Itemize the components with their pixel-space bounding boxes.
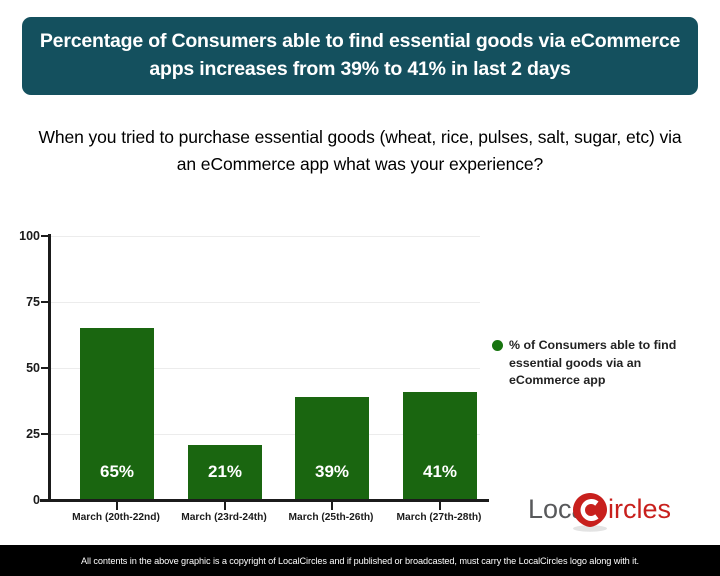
x-tick-mark-4	[439, 501, 441, 510]
y-tick-label-75: 75	[26, 295, 40, 309]
y-tick-mark-25	[41, 433, 49, 435]
legend-dot-icon	[492, 340, 503, 351]
bar-chart: 65% 21% 39% 41% 100 75 50 25 0 March (20…	[0, 0, 720, 545]
x-axis	[40, 499, 489, 502]
gridline-75	[48, 302, 480, 303]
x-tick-mark-1	[116, 501, 118, 510]
x-tick-mark-2	[224, 501, 226, 510]
y-tick-mark-50	[41, 367, 49, 369]
bar-value-label: 65%	[80, 462, 154, 482]
x-category-label-1: March (20th-22nd)	[72, 512, 160, 523]
plot-area: 65% 21% 39% 41%	[48, 236, 480, 500]
x-category-label-2: March (23rd-24th)	[181, 512, 266, 523]
x-tick-mark-3	[331, 501, 333, 510]
localcircles-logo: Local ircles	[528, 490, 704, 532]
legend-label: % of Consumers able to find essential go…	[509, 337, 696, 390]
bar-value-label: 41%	[403, 462, 477, 482]
y-tick-label-0: 0	[33, 493, 40, 507]
logo-text-ircles: ircles	[608, 494, 671, 524]
bar-value-label: 39%	[295, 462, 369, 482]
y-tick-mark-0	[41, 499, 49, 501]
x-category-label-3: March (25th-26th)	[289, 512, 374, 523]
gridline-100	[48, 236, 480, 237]
copyright-text: All contents in the above graphic is a c…	[81, 556, 639, 566]
y-axis-labels: 100 75 50 25 0	[0, 0, 40, 545]
y-tick-mark-75	[41, 301, 49, 303]
x-category-label-4: March (27th-28th)	[397, 512, 482, 523]
y-tick-mark-100	[41, 235, 49, 237]
bar-march-25th-26th[interactable]: 39%	[295, 397, 369, 500]
bar-value-label: 21%	[188, 462, 262, 482]
footer-bar: All contents in the above graphic is a c…	[0, 545, 720, 576]
bar-march-27th-28th[interactable]: 41%	[403, 392, 477, 500]
bar-march-20th-22nd[interactable]: 65%	[80, 328, 154, 500]
y-tick-label-100: 100	[19, 229, 40, 243]
y-tick-label-25: 25	[26, 427, 40, 441]
chart-legend: % of Consumers able to find essential go…	[492, 337, 696, 390]
y-tick-label-50: 50	[26, 361, 40, 375]
bar-march-23rd-24th[interactable]: 21%	[188, 445, 262, 500]
